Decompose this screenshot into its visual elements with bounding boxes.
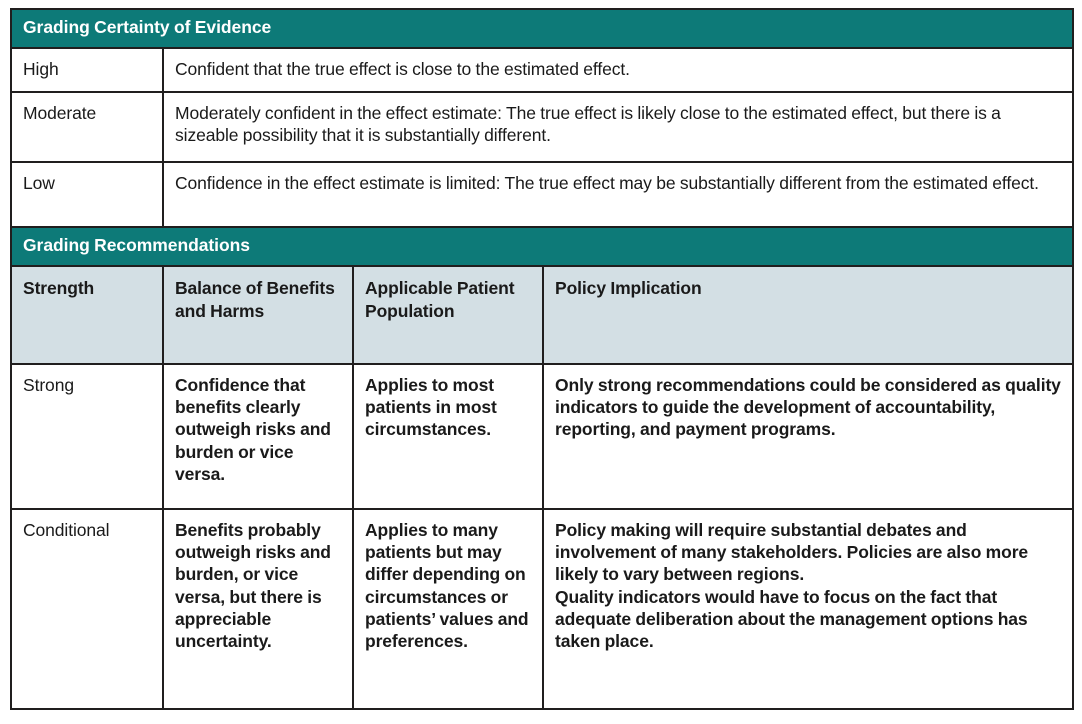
section-banner-certainty: Grading Certainty of Evidence	[11, 9, 1073, 48]
table-row-recommendation-strong: Strong Confidence that benefits clearly …	[11, 364, 1073, 509]
certainty-level-moderate: Moderate	[11, 92, 163, 162]
column-header-applicable-patient-population: Applicable Patient Population	[353, 266, 543, 364]
recommendation-balance-strong: Confidence that benefits clearly outweig…	[163, 364, 353, 509]
section-banner-recommendations: Grading Recommendations	[11, 227, 1073, 266]
table-row-certainty-low: Low Confidence in the effect estimate is…	[11, 162, 1073, 227]
table-row-recommendation-conditional: Conditional Benefits probably outweigh r…	[11, 509, 1073, 709]
recommendation-balance-conditional: Benefits probably outweigh risks and bur…	[163, 509, 353, 709]
recommendation-policy-conditional: Policy making will require substantial d…	[543, 509, 1073, 709]
certainty-description-moderate: Moderately confident in the effect estim…	[163, 92, 1073, 162]
recommendation-strength-strong: Strong	[11, 364, 163, 509]
recommendation-policy-conditional-paragraph-2: Quality indicators would have to focus o…	[555, 586, 1063, 653]
certainty-level-high: High	[11, 48, 163, 92]
column-header-balance-of-benefits-and-harms: Balance of Benefits and Harms	[163, 266, 353, 364]
column-header-strength: Strength	[11, 266, 163, 364]
section-banner-recommendations-label: Grading Recommendations	[11, 227, 1073, 266]
evidence-grading-table-sheet: Grading Certainty of Evidence High Confi…	[10, 8, 1072, 713]
section-banner-certainty-label: Grading Certainty of Evidence	[11, 9, 1073, 48]
recommendation-population-strong: Applies to most patients in most circums…	[353, 364, 543, 509]
table-row-certainty-moderate: Moderate Moderately confident in the eff…	[11, 92, 1073, 162]
recommendation-policy-conditional-paragraph-1: Policy making will require substantial d…	[555, 519, 1063, 586]
certainty-description-high: Confident that the true effect is close …	[163, 48, 1073, 92]
certainty-description-low: Confidence in the effect estimate is lim…	[163, 162, 1073, 227]
certainty-level-low: Low	[11, 162, 163, 227]
recommendation-policy-strong: Only strong recommendations could be con…	[543, 364, 1073, 509]
recommendation-policy-strong-paragraph-1: Only strong recommendations could be con…	[555, 374, 1063, 441]
recommendation-strength-conditional: Conditional	[11, 509, 163, 709]
grading-table: Grading Certainty of Evidence High Confi…	[10, 8, 1074, 710]
table-row-certainty-high: High Confident that the true effect is c…	[11, 48, 1073, 92]
recommendation-population-conditional: Applies to many patients but may differ …	[353, 509, 543, 709]
column-header-policy-implication: Policy Implication	[543, 266, 1073, 364]
table-header-row-recommendations: Strength Balance of Benefits and Harms A…	[11, 266, 1073, 364]
